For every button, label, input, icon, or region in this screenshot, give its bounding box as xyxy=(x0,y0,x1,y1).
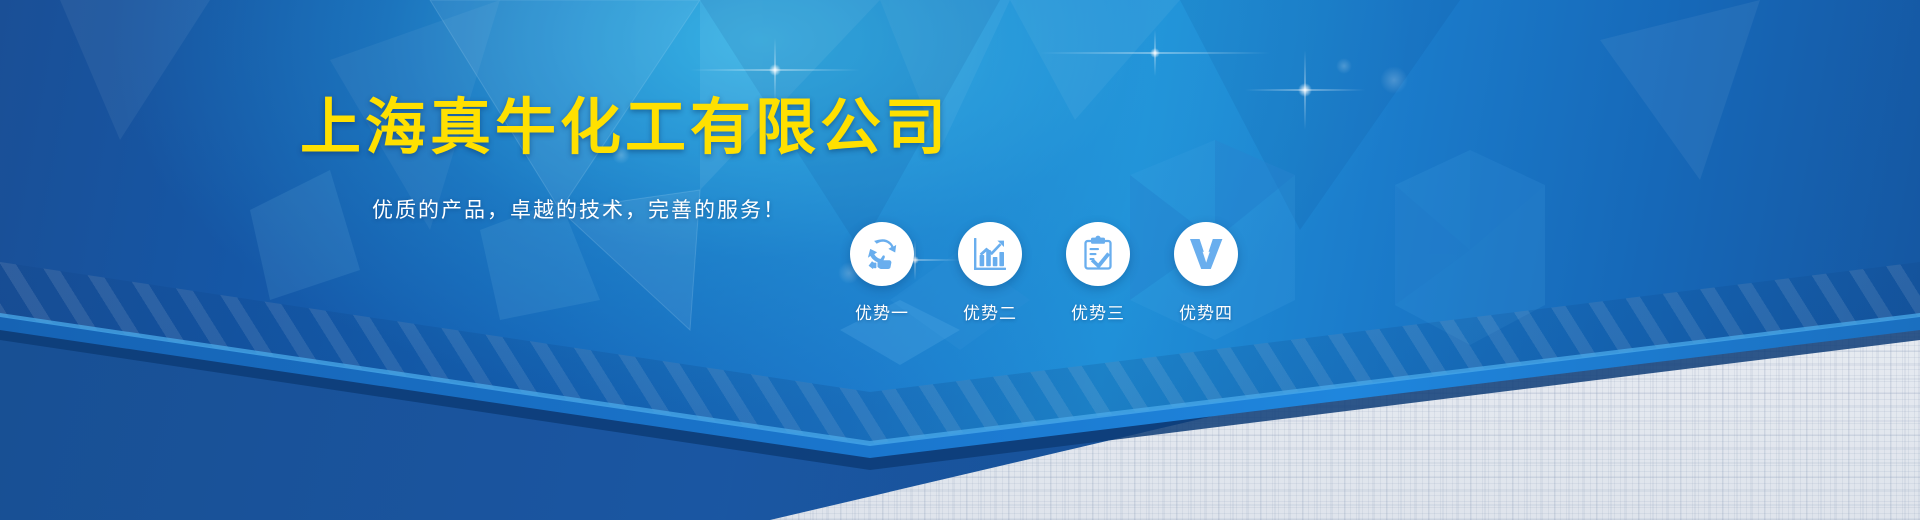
advantage-icon-circle-3[interactable] xyxy=(1066,222,1130,286)
page-subtitle: 优质的产品，卓越的技术，完善的服务！ xyxy=(372,194,786,224)
advantage-icon-circle-1[interactable] xyxy=(850,222,914,286)
v-check-icon xyxy=(1186,234,1226,274)
refresh-thumbsup-icon xyxy=(862,234,902,274)
advantage-label-4: 优势四 xyxy=(1179,299,1233,324)
advantage-label-2: 优势二 xyxy=(963,299,1017,324)
bar-chart-growth-icon xyxy=(971,235,1009,273)
advantage-list: 优势一 xyxy=(828,222,1260,324)
advantage-item-4[interactable]: 优势四 xyxy=(1152,222,1260,324)
company-banner: 上海真牛化工有限公司 优质的产品，卓越的技术，完善的服务！ xyxy=(0,0,1920,520)
advantage-item-2[interactable]: 优势二 xyxy=(936,222,1044,324)
advantage-item-1[interactable]: 优势一 xyxy=(828,222,936,324)
clipboard-check-icon xyxy=(1079,235,1117,273)
advantage-label-3: 优势三 xyxy=(1071,299,1125,324)
advantage-icon-circle-2[interactable] xyxy=(958,222,1022,286)
page-title: 上海真牛化工有限公司 xyxy=(300,92,950,162)
advantage-item-3[interactable]: 优势三 xyxy=(1044,222,1152,324)
advantage-icon-circle-4[interactable] xyxy=(1174,222,1238,286)
advantage-label-1: 优势一 xyxy=(855,299,909,324)
